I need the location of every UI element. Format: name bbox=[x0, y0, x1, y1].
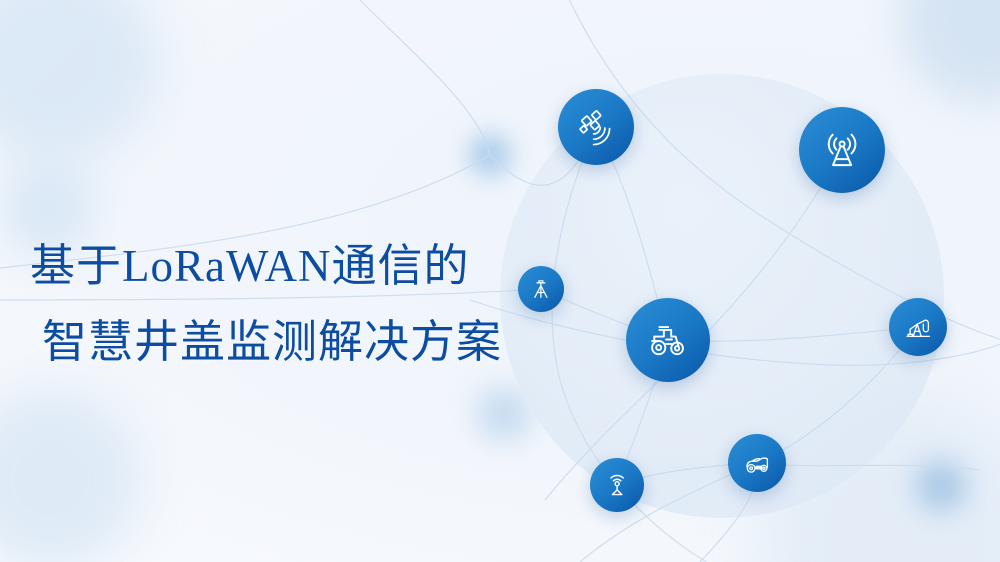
oil-pumpjack-icon bbox=[902, 311, 934, 343]
radio-tower-icon[interactable] bbox=[799, 107, 885, 193]
antenna-tower-icon bbox=[818, 126, 866, 174]
tractor-icon bbox=[644, 316, 691, 363]
robot-mower-icon bbox=[741, 447, 773, 479]
survey-tripod-icon bbox=[528, 276, 554, 302]
page-title: 基于LoRaWAN通信的 智慧井盖监测解决方案 bbox=[30, 228, 502, 380]
oil-pump-icon[interactable] bbox=[889, 298, 947, 356]
satellite-icon bbox=[575, 106, 618, 149]
tractor-icon[interactable] bbox=[626, 298, 710, 382]
wifi-beacon-icon bbox=[602, 470, 632, 500]
mower-robot-icon[interactable] bbox=[728, 434, 786, 492]
tripod-icon[interactable] bbox=[518, 266, 564, 312]
title-line-1: 基于LoRaWAN通信的 bbox=[30, 228, 502, 304]
wireless-sensor-icon[interactable] bbox=[590, 458, 644, 512]
satellite-dish-icon[interactable] bbox=[558, 89, 634, 165]
title-line-2: 智慧井盖监测解决方案 bbox=[30, 304, 502, 380]
slide-canvas: 基于LoRaWAN通信的 智慧井盖监测解决方案 bbox=[0, 0, 1000, 562]
